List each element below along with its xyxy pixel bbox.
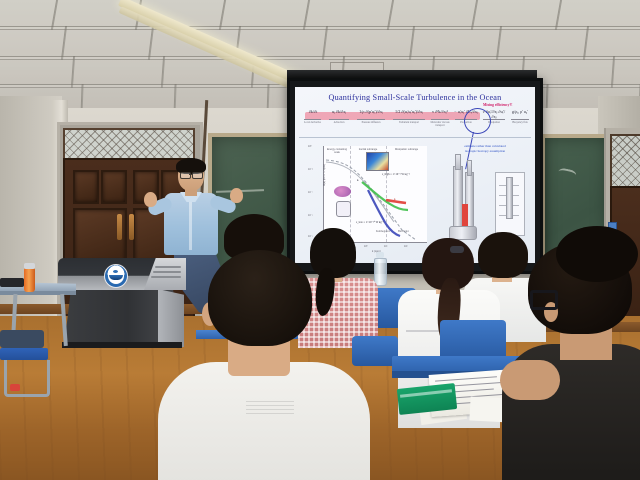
ceiling-tile: [322, 26, 415, 60]
term-underbrace: [393, 119, 425, 120]
equation-term-label: Local derivative: [301, 121, 324, 124]
ceiling-tile: [496, 26, 589, 60]
chair-frame: [4, 360, 50, 397]
blue-annotation-line1: estimate rather than calculated: [464, 144, 505, 148]
equation-term: uⱼ ∂k/∂xⱼ: [327, 109, 351, 114]
eyeglasses-bridge: [189, 174, 192, 175]
shirt-placket: [189, 198, 192, 250]
slide-title: Quantifying Small-Scale Turbulence in th…: [295, 93, 535, 102]
probe-tip-icon: [455, 154, 461, 170]
equation-term: ν ∂²k/∂xⱼ²: [429, 109, 451, 114]
equation-term-label: Advection: [326, 121, 352, 124]
table-leg: [60, 294, 68, 346]
lectern-podium[interactable]: [58, 258, 186, 348]
blue-chair-left[interactable]: [0, 340, 50, 398]
equation-term: 1/2 ∂(uᵢ'uᵢ'uⱼ')/∂xⱼ: [391, 109, 427, 114]
term-underbrace: [304, 119, 321, 120]
chart-annotation-kolmogorov: Kolmogorov: [376, 230, 390, 233]
equation-term-label: Molecular viscous transport: [427, 121, 453, 127]
thermos-cap: [24, 263, 35, 269]
probe-tip-icon: [467, 160, 472, 176]
equation-term-label: Pressure diffusion: [354, 121, 388, 124]
chart-y-axis-label: Φ(k) (m² s⁻² / cpm): [323, 164, 326, 186]
term-underbrace: [357, 119, 385, 120]
eyeglasses-icon: [192, 172, 203, 179]
blue-annotation-line2: isotropic/isotropy assumption: [465, 149, 505, 153]
door-panel: [73, 170, 99, 204]
dissipation-term-ellipse-annotation: [464, 108, 491, 134]
handwriting-line: [435, 376, 497, 381]
chart-ytick: 10⁻²: [308, 168, 313, 171]
presenter-left-hand: [144, 192, 157, 207]
chart-annotation-epsilon-low: ε_low = 1×10⁻¹⁰ W kg⁻¹: [356, 220, 384, 224]
instrument-schematic-box: [495, 172, 525, 236]
transom-lattice-window-right: [610, 134, 640, 190]
equation-term-label: Turbulent transport: [390, 121, 428, 124]
student-black-tshirt-glasses: [516, 232, 640, 480]
chart-xtick: 10¹: [384, 245, 387, 248]
equation-term: g/ρ₀ ρ' u₃': [509, 109, 531, 114]
term-underbrace: [329, 119, 349, 120]
door-handle-icon[interactable]: [129, 214, 134, 240]
schematic-probe-icon: [506, 177, 513, 219]
chart-ytick: 10⁰: [308, 145, 312, 148]
ceiling-tile: [0, 26, 67, 60]
hair-clip: [450, 246, 464, 253]
presenter-right-hand: [230, 188, 243, 203]
chart-annotation-batchelor: Batchelor: [398, 230, 409, 233]
transom-lattice-window: [63, 128, 195, 162]
tshirt-print: [246, 400, 294, 414]
bare-shoulder-arm: [500, 360, 560, 400]
hair: [208, 250, 312, 346]
chair-back: [0, 330, 44, 348]
ceiling-tile: [61, 26, 154, 60]
logo-dot: [113, 270, 118, 273]
slide-divider: [299, 137, 531, 138]
ceiling-tile: [409, 26, 502, 60]
hair-top: [556, 226, 638, 282]
ceiling-tile: [583, 26, 640, 60]
institute-circular-logo: [104, 264, 128, 288]
door-panel: [101, 170, 127, 204]
blue-annotation-text: estimate rather than calculated isotropi…: [441, 144, 529, 154]
door-handle-icon[interactable]: [117, 214, 122, 240]
equation-term: ∂k/∂t: [303, 109, 323, 114]
podium-base: [62, 342, 182, 348]
chart-ytick: 10⁻⁶: [308, 214, 313, 217]
chart-ytick: 10⁻⁴: [308, 191, 313, 194]
black-object-on-table[interactable]: [0, 278, 24, 287]
table-edge: [0, 291, 76, 295]
white-tshirt: [158, 362, 370, 480]
classroom-lecture-photo: Quantifying Small-Scale Turbulence in th…: [0, 0, 640, 480]
tke-budget-equation: ∂k/∂t Local derivative uⱼ ∂k/∂xⱼ Advecti…: [301, 107, 529, 133]
eyeglasses-icon: [530, 290, 558, 310]
chart-annotation-epsilon-high: ε_high = 1×10⁻⁶ W kg⁻¹: [382, 172, 410, 176]
mixing-efficiency-annotation: Mixing efficiency?!: [483, 103, 512, 107]
equation-term-label: Buoyancy flux: [507, 121, 533, 124]
orange-thermos[interactable]: [24, 268, 35, 292]
equation-term: 1/ρ ∂(p'uⱼ')/∂xⱼ: [355, 109, 387, 114]
chair-seat: [0, 348, 48, 360]
red-object-under-chair: [10, 384, 20, 391]
term-underbrace: [511, 119, 529, 120]
term-underbrace: [431, 119, 449, 120]
student-white-tshirt: [168, 250, 358, 480]
curve-gray-solid: [326, 162, 394, 222]
chart-annotation-kb: kᵣ: [394, 198, 396, 201]
chart-annotation-kn: kᵢ: [357, 179, 359, 182]
